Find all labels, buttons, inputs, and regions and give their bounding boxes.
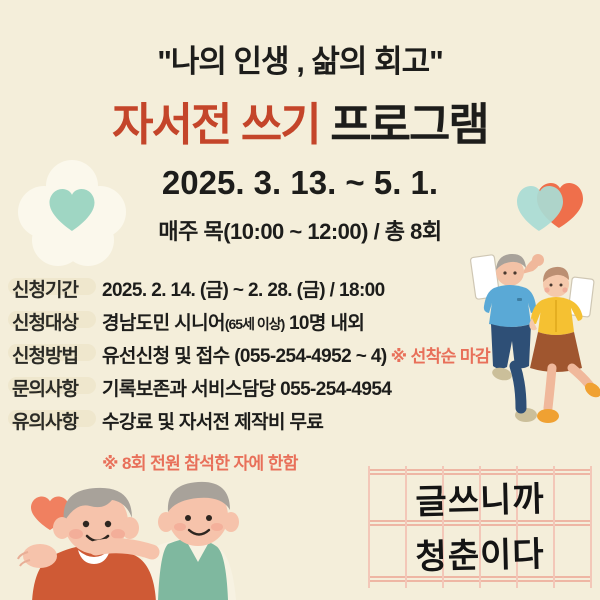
- info-value-main: 기록보존과 서비스담당 055-254-4954: [102, 379, 391, 400]
- info-value-main: 유선신청 및 접수 (055-254-4952 ~ 4): [102, 346, 387, 367]
- info-label: 문의사항: [12, 374, 94, 401]
- info-label: 신청대상: [12, 308, 94, 335]
- info-list: 신청기간 2025. 2. 14. (금) ~ 2. 28. (금) / 18:…: [12, 275, 482, 474]
- info-row-notice: 유의사항 수강료 및 자서전 제작비 무료: [12, 407, 482, 440]
- title-highlight: 자서전 쓰기: [112, 99, 320, 150]
- info-label: 신청방법: [12, 341, 94, 368]
- info-row-contact: 문의사항 기록보존과 서비스담당 055-254-4954: [12, 374, 482, 407]
- info-row-application-period: 신청기간 2025. 2. 14. (금) ~ 2. 28. (금) / 18:…: [12, 275, 482, 308]
- info-value-main: 경남도민 시니어: [102, 313, 225, 334]
- info-value: 유선신청 및 접수 (055-254-4952 ~ 4)※ 선착순 마감: [94, 341, 490, 368]
- info-value: 수강료 및 자서전 제작비 무료: [94, 407, 323, 434]
- jumping-seniors-illustration: [460, 240, 600, 428]
- title-rest: 프로그램: [330, 99, 488, 150]
- program-date-range: 2025. 3. 13. ~ 5. 1.: [0, 164, 600, 202]
- info-label: 신청기간: [12, 275, 94, 302]
- info-value: 2025. 2. 14. (금) ~ 2. 28. (금) / 18:00: [94, 275, 385, 302]
- info-value: 경남도민 시니어(65세 이상) 10명 내외: [94, 308, 364, 335]
- calligraphy-block: 글쓰니까 청춘이다: [368, 466, 592, 588]
- info-label: 유의사항: [12, 407, 94, 434]
- calligraphy-line-1: 글쓰니까: [367, 470, 592, 524]
- elderly-couple-illustration: [0, 478, 268, 600]
- poster-root: "나의 인생 , 삶의 회고" 자서전 쓰기 프로그램 2025. 3. 13.…: [0, 0, 600, 600]
- calligraphy-line-2: 청춘이다: [367, 525, 592, 579]
- info-row-target: 신청대상 경남도민 시니어(65세 이상) 10명 내외: [12, 308, 482, 341]
- poster-title: 자서전 쓰기 프로그램: [0, 88, 600, 153]
- info-row-application-method: 신청방법 유선신청 및 접수 (055-254-4952 ~ 4)※ 선착순 마…: [12, 341, 482, 374]
- info-value-small: (65세 이상): [225, 316, 284, 332]
- info-value-main: 2025. 2. 14. (금) ~ 2. 28. (금) / 18:00: [102, 280, 385, 301]
- info-value-tail: 10명 내외: [284, 313, 364, 334]
- poster-subtitle: "나의 인생 , 삶의 회고": [0, 36, 600, 81]
- info-value-main: 수강료 및 자서전 제작비 무료: [102, 412, 323, 433]
- info-value: 기록보존과 서비스담당 055-254-4954: [94, 374, 391, 401]
